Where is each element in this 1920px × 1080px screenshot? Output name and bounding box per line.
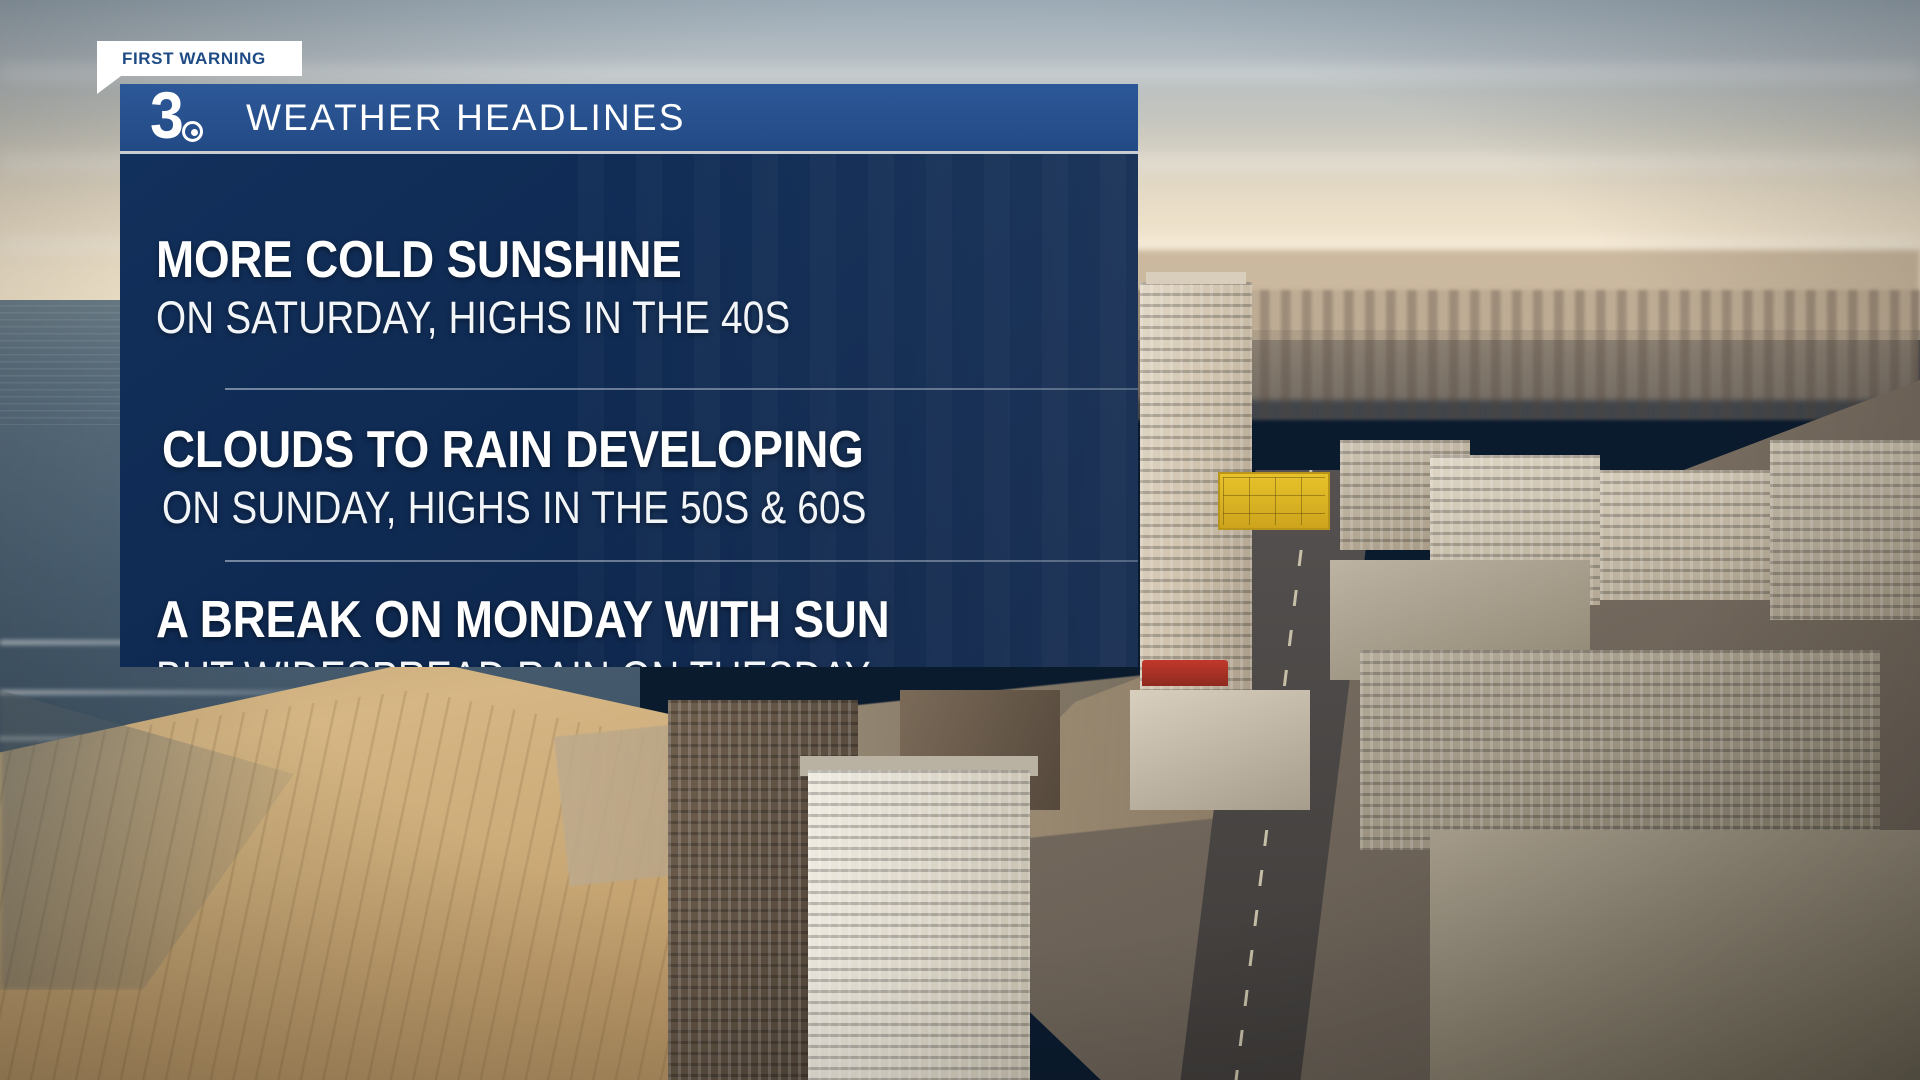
headline-sub: ON SATURDAY, HIGHS IN THE 40S — [156, 294, 790, 341]
channel-3-eye-logo-icon: 3 — [150, 89, 224, 147]
logo-eye-icon — [182, 121, 203, 142]
headline-sub: BUT WIDESPREAD RAIN ON TUESDAY — [156, 654, 873, 667]
headline-sub: ON SUNDAY, HIGHS IN THE 50S & 60S — [162, 484, 867, 531]
broadcast-weather-graphic: FIRST WARNING 3 WEATHER HEADLINES MORE C… — [0, 0, 1920, 1080]
first-warning-badge: FIRST WARNING — [97, 41, 302, 76]
logo-numeral: 3 — [150, 86, 184, 144]
headline-divider — [225, 388, 1138, 390]
badge-fold-corner — [97, 76, 121, 94]
headline-item: CLOUDS TO RAIN DEVELOPING ON SUNDAY, HIG… — [162, 424, 981, 531]
panel-body: MORE COLD SUNSHINE ON SATURDAY, HIGHS IN… — [120, 154, 1138, 667]
headline-main: MORE COLD SUNSHINE — [156, 234, 805, 286]
headline-main: A BREAK ON MONDAY WITH SUN — [156, 594, 890, 646]
panel-title: WEATHER HEADLINES — [246, 97, 686, 139]
headline-item: MORE COLD SUNSHINE ON SATURDAY, HIGHS IN… — [156, 234, 894, 341]
first-warning-label: FIRST WARNING — [122, 49, 266, 69]
headline-item: A BREAK ON MONDAY WITH SUN BUT WIDESPREA… — [156, 594, 990, 667]
weather-headlines-panel: 3 WEATHER HEADLINES MORE COLD SUNSHINE O… — [120, 84, 1138, 667]
headline-main: CLOUDS TO RAIN DEVELOPING — [162, 424, 883, 476]
headline-divider — [225, 560, 1138, 562]
panel-header: 3 WEATHER HEADLINES — [120, 84, 1138, 154]
